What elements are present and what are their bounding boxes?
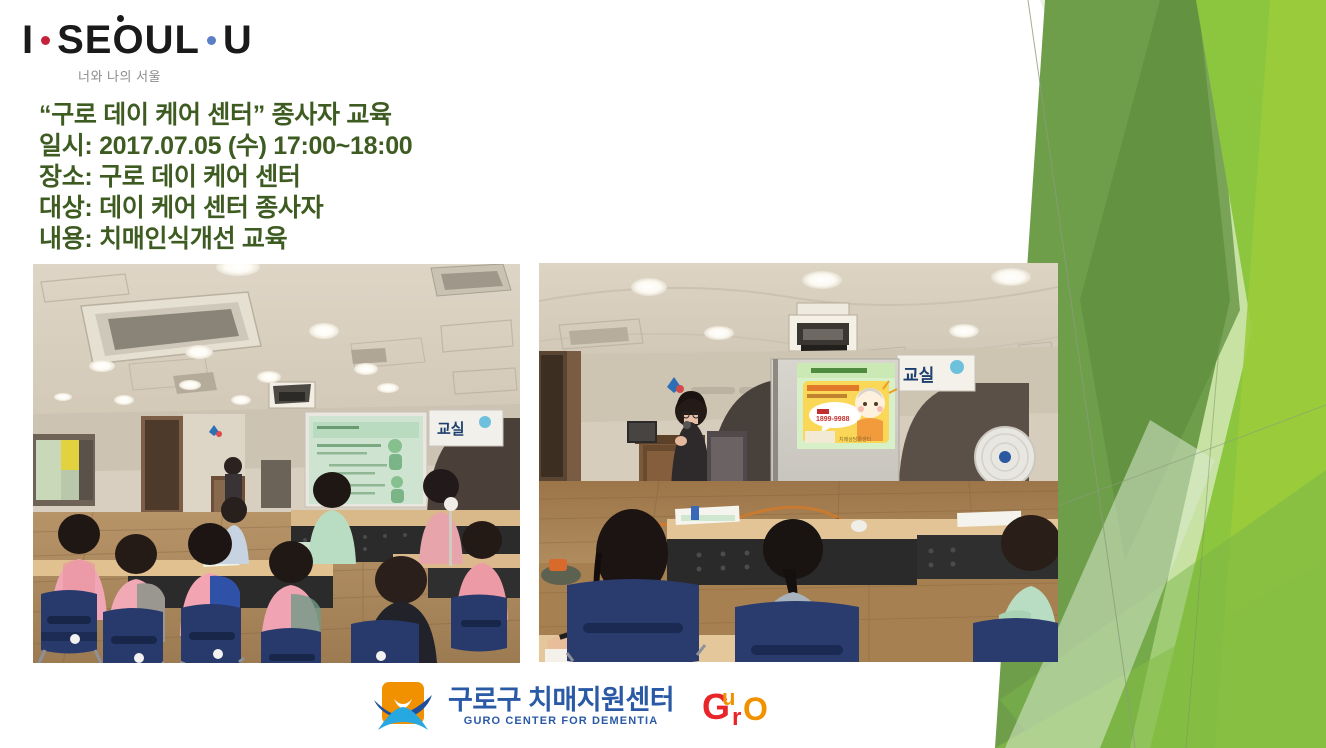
footer-logos: 구로구 치매지원센터 GURO CENTER FOR DEMENTIA G u … — [372, 680, 772, 732]
logo-letter-u: U — [223, 18, 253, 63]
title-heading: “구로 데이 케어 센터” 종사자 교육 — [39, 100, 412, 131]
svg-text:치매상담콜센터: 치매상담콜센터 — [839, 436, 871, 443]
logo-word-seoul: SEOUL — [57, 18, 200, 63]
logo-blue-dot-icon — [207, 36, 216, 45]
logo-seoul-text: SEOUL — [57, 18, 200, 62]
svg-text:O: O — [743, 691, 768, 727]
slide-title-block: “구로 데이 케어 센터” 종사자 교육 일시: 2017.07.05 (수) … — [39, 100, 412, 255]
photo-right-presenter-at-podium: 교실 1899-9988 — [539, 263, 1058, 662]
i-seoul-u-logo: I SEOUL U 너와 나의 서울 — [22, 18, 262, 85]
guro-center-name-english: GURO CENTER FOR DEMENTIA — [464, 715, 658, 728]
svg-text:r: r — [732, 704, 741, 729]
svg-text:1899-9988: 1899-9988 — [816, 416, 850, 423]
logo-letter-i: I — [22, 18, 34, 63]
title-target: 대상: 데이 케어 센터 종사자 — [39, 193, 412, 224]
presentation-slide: I SEOUL U 너와 나의 서울 “구로 데이 케어 센터” 종사자 교육 … — [0, 0, 1326, 748]
photo-left-classroom-audience: 교실 — [33, 264, 520, 663]
svg-text:교실: 교실 — [437, 421, 465, 438]
guro-wordmark-logo: G u r O — [702, 683, 772, 729]
title-content: 내용: 치매인식개선 교육 — [39, 224, 412, 255]
title-place: 장소: 구로 데이 케어 센터 — [39, 162, 412, 193]
logo-subtitle: 너와 나의 서울 — [78, 66, 262, 85]
logo-o-dot-icon — [117, 15, 124, 22]
guro-center-name-korean: 구로구 치매지원센터 — [448, 685, 674, 715]
i-seoul-u-wordmark: I SEOUL U — [22, 18, 262, 62]
guro-center-mark-icon — [372, 680, 434, 732]
logo-red-dot-icon — [41, 36, 50, 45]
title-date: 일시: 2017.07.05 (수) 17:00~18:00 — [39, 131, 412, 162]
guro-center-name: 구로구 치매지원센터 GURO CENTER FOR DEMENTIA — [448, 685, 674, 728]
svg-text:교실: 교실 — [903, 366, 934, 385]
